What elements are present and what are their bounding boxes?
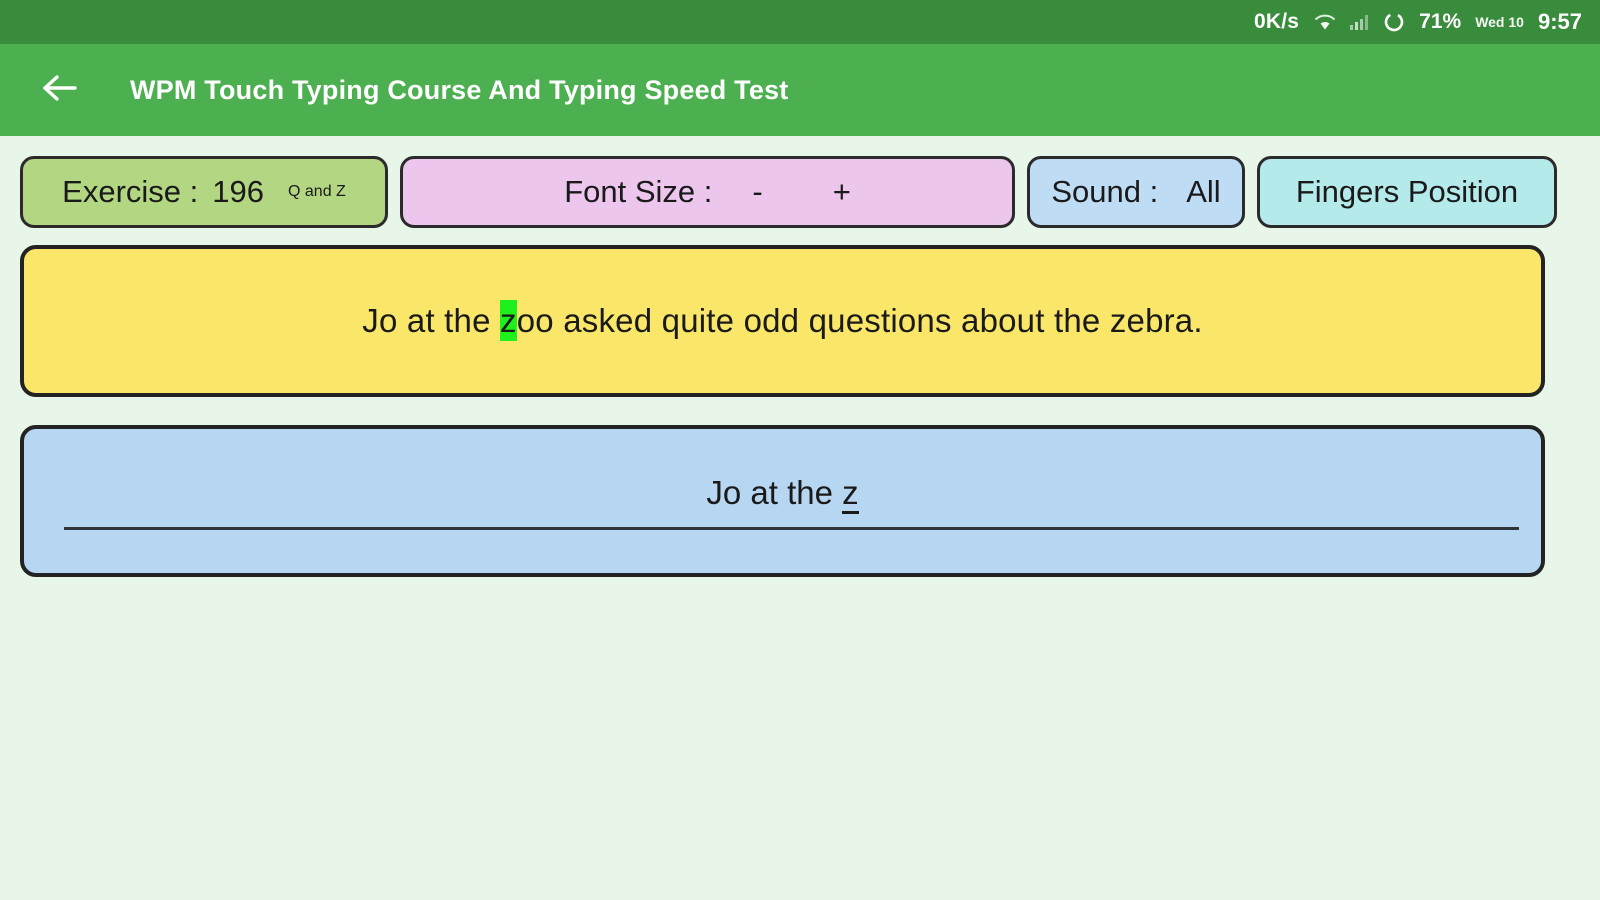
exercise-text-before: Jo at the — [362, 302, 500, 339]
battery-ring-icon — [1383, 11, 1405, 33]
sound-label: Sound : — [1051, 174, 1158, 210]
page-title: WPM Touch Typing Course And Typing Speed… — [130, 75, 789, 106]
cellular-signal-icon — [1349, 13, 1369, 31]
exercise-text-panel: Jo at the zoo asked quite odd questions … — [20, 245, 1545, 397]
exercise-label: Exercise : — [62, 174, 198, 210]
app-bar: WPM Touch Typing Course And Typing Speed… — [0, 44, 1600, 136]
fingers-position-label: Fingers Position — [1296, 174, 1518, 210]
exercise-sentence: Jo at the zoo asked quite odd questions … — [362, 302, 1202, 340]
font-size-label: Font Size : — [564, 174, 712, 210]
status-bar: 0K/s 71% Wed 10 9:57 — [0, 0, 1600, 44]
typed-text-wrap: Jo at the z — [24, 474, 1541, 512]
input-underline — [64, 527, 1519, 530]
exercise-sublabel: Q and Z — [288, 183, 346, 201]
typed-text: Jo at the — [706, 474, 842, 511]
wifi-icon — [1313, 13, 1335, 31]
sound-value: All — [1186, 174, 1220, 210]
font-size-control[interactable]: Font Size : - + — [400, 156, 1015, 228]
font-size-decrease-button[interactable]: - — [752, 174, 762, 210]
typing-input-field[interactable]: Jo at the z — [706, 474, 858, 512]
sound-button[interactable]: Sound : All — [1027, 156, 1245, 228]
exercise-button[interactable]: Exercise : 196 Q and Z — [20, 156, 388, 228]
back-button[interactable] — [34, 64, 86, 116]
typing-input-panel[interactable]: Jo at the z — [20, 425, 1545, 577]
back-arrow-icon — [40, 72, 80, 109]
typing-caret-char: z — [842, 474, 859, 514]
network-speed-text: 0K/s — [1254, 10, 1299, 34]
fingers-position-button[interactable]: Fingers Position — [1257, 156, 1557, 228]
status-time-text: 9:57 — [1538, 9, 1582, 35]
status-date-text: Wed 10 — [1475, 14, 1524, 30]
font-size-increase-button[interactable]: + — [833, 174, 851, 210]
exercise-current-char: z — [500, 300, 517, 341]
battery-percent-text: 71% — [1419, 10, 1461, 34]
exercise-number: 196 — [212, 174, 264, 210]
exercise-text-after: oo asked quite odd questions about the z… — [517, 302, 1203, 339]
options-toolbar: Exercise : 196 Q and Z Font Size : - + S… — [0, 136, 1600, 234]
